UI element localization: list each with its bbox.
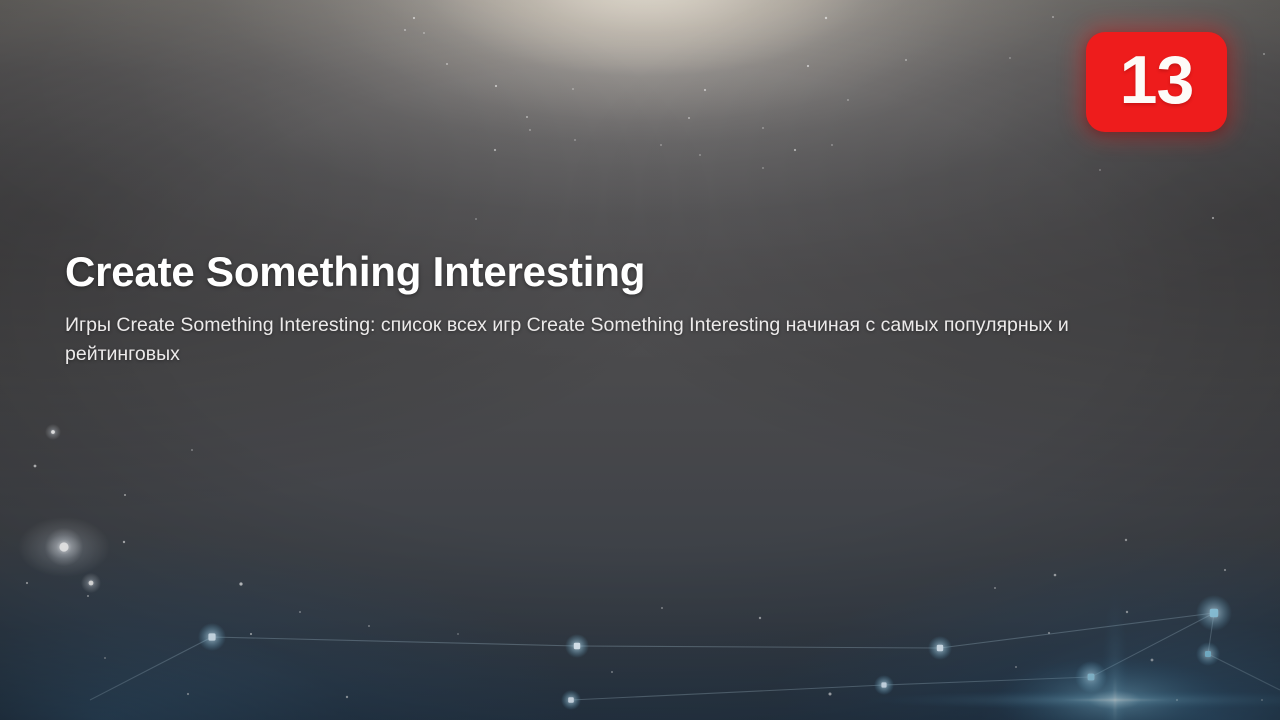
- rank-badge[interactable]: 13: [1086, 32, 1227, 132]
- page-title: Create Something Interesting: [65, 246, 1085, 298]
- slide-canvas: Create Something Interesting Игры Create…: [0, 0, 1280, 720]
- hero-text-block: Create Something Interesting Игры Create…: [65, 246, 1085, 368]
- rank-badge-value: 13: [1120, 46, 1194, 114]
- page-description: Игры Create Something Interesting: списо…: [65, 311, 1080, 368]
